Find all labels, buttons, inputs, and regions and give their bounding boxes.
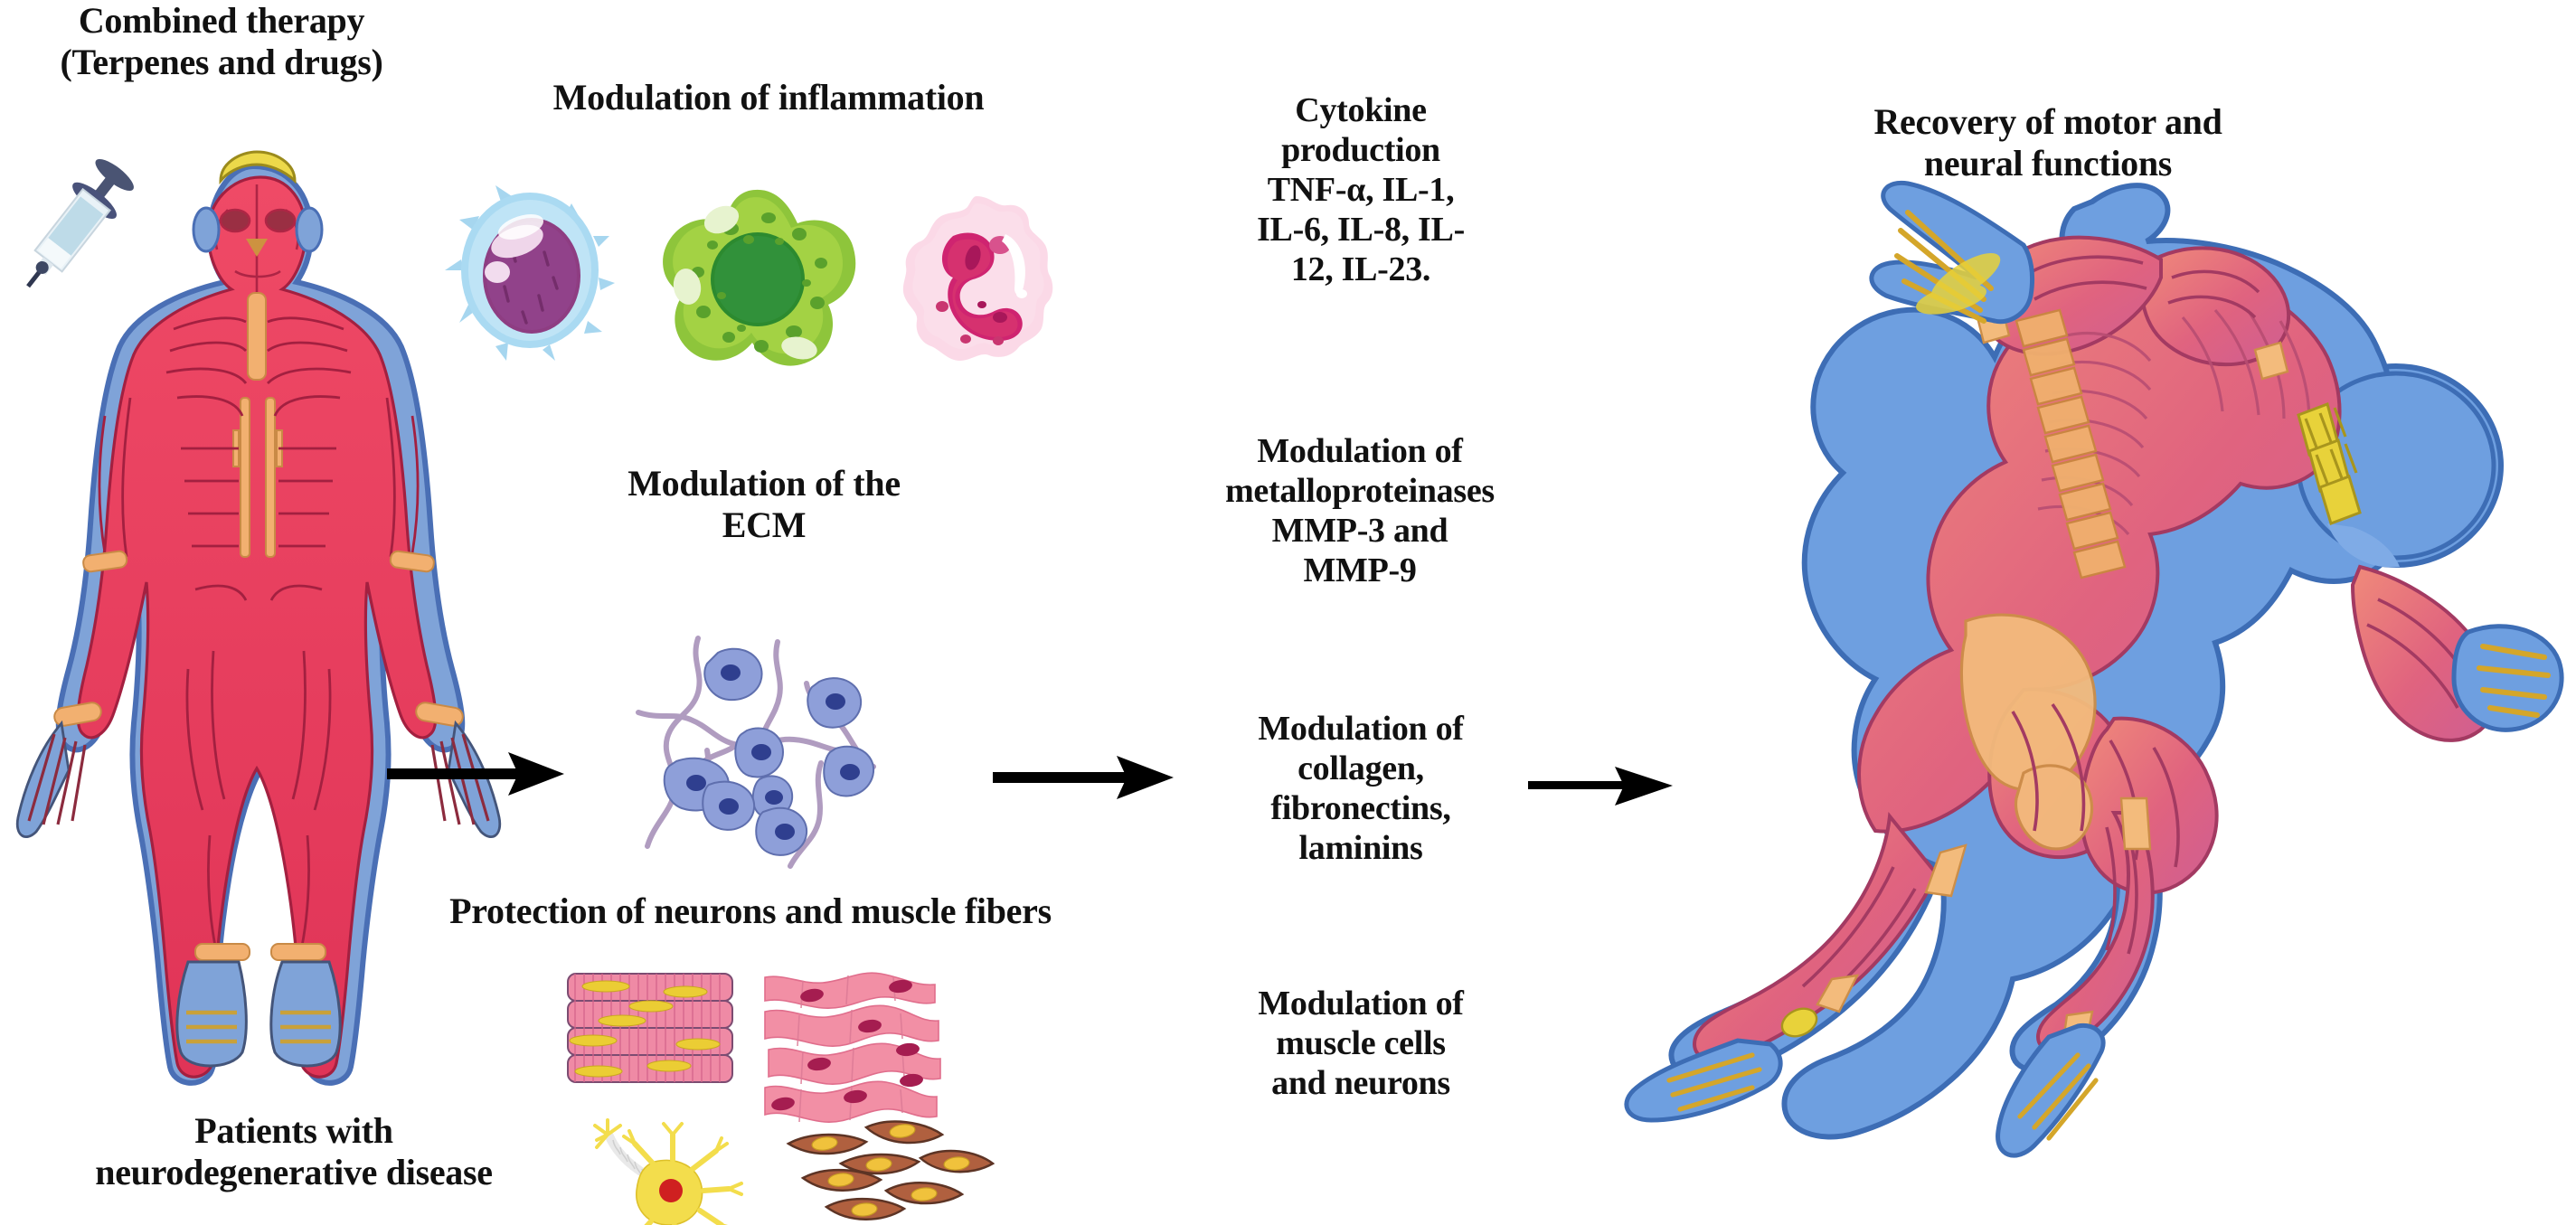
skeletal-muscle-fibers	[568, 974, 732, 1082]
metalloproteinases-block: Modulation of metalloproteinases MMP-3 a…	[1192, 431, 1528, 590]
running-sprinter-muscular-figure	[1618, 176, 2576, 1216]
muscle-line2: muscle cells	[1203, 1023, 1519, 1063]
muscle-line1: Modulation of	[1203, 984, 1519, 1023]
collagen-line3: fibronectins,	[1203, 788, 1519, 828]
collagen-line4: laminins	[1203, 828, 1519, 868]
immune-cells-group	[434, 176, 1085, 402]
patients-line1: Patients with	[23, 1110, 565, 1152]
extracellular-matrix-cells	[597, 633, 895, 886]
mmp-line1: Modulation of	[1192, 431, 1528, 471]
macrophage-cell	[663, 190, 855, 366]
patients-label: Patients with neurodegenerative disease	[23, 1110, 565, 1194]
cardiac-muscle-fibers	[765, 973, 940, 1122]
tissue-illustrations-group	[543, 963, 986, 1225]
modulation-ecm-line2: ECM	[561, 504, 967, 546]
collagen-line2: collagen,	[1203, 749, 1519, 788]
patients-line2: neurodegenerative disease	[23, 1152, 565, 1193]
cytokine-line2: production	[1203, 130, 1519, 170]
lymphocyte-cell	[445, 185, 615, 361]
neuron-cell	[595, 1120, 741, 1225]
mmp-list-line1: MMP-3 and	[1192, 511, 1528, 551]
neutrophil-cell	[903, 196, 1052, 361]
modulation-inflammation-text: Modulation of inflammation	[506, 77, 1031, 118]
modulation-ecm-label: Modulation of the ECM	[561, 463, 967, 547]
cytokine-line1: Cytokine	[1203, 90, 1519, 130]
protection-neurons-text: Protection of neurons and muscle fibers	[380, 890, 1121, 932]
mmp-list-line2: MMP-9	[1192, 551, 1528, 590]
cytokine-list-line3: 12, IL-23.	[1203, 250, 1519, 289]
recovery-label: Recovery of motor and neural functions	[1772, 101, 2324, 185]
arrow-mechanisms-to-molecules	[993, 752, 1178, 803]
recovery-line1: Recovery of motor and	[1772, 101, 2324, 143]
muscle-cells-block: Modulation of muscle cells and neurons	[1203, 984, 1519, 1103]
modulation-inflammation-label: Modulation of inflammation	[506, 77, 1031, 118]
cytokine-list-line2: IL-6, IL-8, IL-	[1203, 210, 1519, 250]
collagen-line1: Modulation of	[1203, 709, 1519, 749]
smooth-muscle-cells	[788, 1122, 993, 1220]
muscle-line3: and neurons	[1203, 1063, 1519, 1103]
modulation-ecm-line1: Modulation of the	[561, 463, 967, 504]
arrow-body-to-mechanisms	[387, 749, 568, 799]
cytokine-list-line1: TNF-α, IL-1,	[1203, 170, 1519, 210]
diagram-canvas: Combined therapy (Terpenes and drugs)	[0, 0, 2576, 1221]
cytokine-production-block: Cytokine production TNF-α, IL-1, IL-6, I…	[1203, 90, 1519, 289]
mmp-line2: metalloproteinases	[1192, 471, 1528, 511]
combined-therapy-line1: Combined therapy	[9, 0, 434, 42]
combined-therapy-title: Combined therapy (Terpenes and drugs)	[9, 0, 434, 84]
collagen-block: Modulation of collagen, fibronectins, la…	[1203, 709, 1519, 868]
standing-muscular-human-figure	[0, 127, 506, 1103]
protection-neurons-label: Protection of neurons and muscle fibers	[380, 890, 1121, 932]
combined-therapy-line2: (Terpenes and drugs)	[9, 42, 434, 83]
